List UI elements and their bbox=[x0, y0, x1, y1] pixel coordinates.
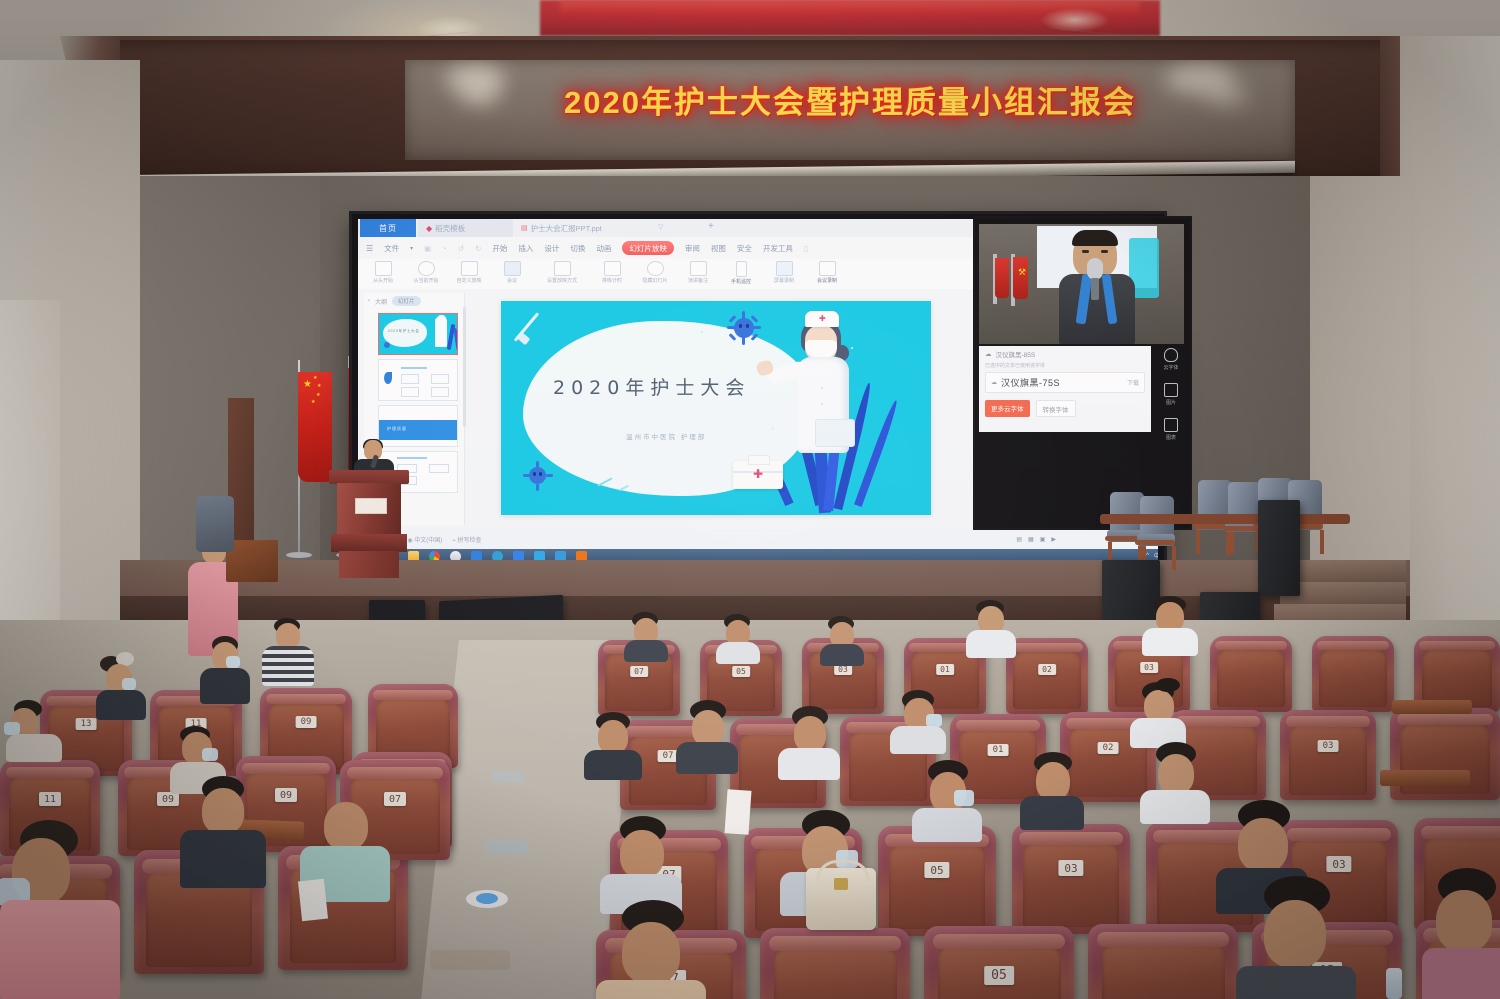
handbag bbox=[806, 868, 876, 930]
collapse-icon[interactable]: ‹ bbox=[368, 298, 370, 304]
seat-number: 01 bbox=[988, 744, 1009, 756]
nurse-clipboard bbox=[815, 419, 855, 447]
slide-canvas[interactable]: 2020年护士大会 温州市中医院 护理部 bbox=[501, 301, 931, 515]
video-feed: ⚒ bbox=[979, 224, 1184, 344]
chevron-down-icon[interactable]: ▾ bbox=[410, 245, 413, 252]
attendee bbox=[1148, 678, 1188, 718]
font-selected-row[interactable]: ☁ 汉仪旗黑-75S 下载 bbox=[985, 372, 1145, 393]
seat[interactable]: 03 bbox=[1012, 824, 1130, 934]
selected-font-name: 汉仪旗黑-75S bbox=[1001, 376, 1060, 389]
seat-armrest-table bbox=[1392, 700, 1472, 714]
side-chair bbox=[196, 496, 234, 552]
presenter-figure bbox=[1057, 230, 1137, 344]
speaker-cabinet bbox=[1258, 500, 1300, 596]
ribbon-item-design[interactable]: 设计 bbox=[544, 243, 559, 254]
slide-thumbnail[interactable] bbox=[378, 359, 458, 401]
more-cloud-fonts-button[interactable]: 更多云字体 bbox=[985, 400, 1030, 417]
meeting-icon bbox=[504, 261, 521, 276]
tab-home[interactable]: 首页 bbox=[360, 219, 416, 237]
setup-show-icon bbox=[554, 261, 571, 276]
tool-play-from-start[interactable]: 从头开始 bbox=[368, 261, 398, 284]
attendee bbox=[262, 618, 314, 684]
floor-decal bbox=[430, 950, 510, 970]
status-spellcheck[interactable]: ⌁ 拼写检查 bbox=[452, 535, 481, 544]
rail-item-chart[interactable]: 图表 bbox=[1164, 418, 1178, 441]
seat[interactable] bbox=[1088, 924, 1238, 999]
seat[interactable]: 05 bbox=[878, 826, 996, 936]
ribbon-item-devtools[interactable]: 开发工具 bbox=[763, 243, 793, 254]
attendee bbox=[600, 816, 682, 912]
attendee bbox=[596, 900, 706, 999]
font-panel-buttons: 更多云字体 转换字体 bbox=[979, 396, 1151, 421]
seat[interactable] bbox=[1390, 708, 1500, 800]
seat-number: 01 bbox=[936, 664, 954, 675]
play-screen-icon bbox=[375, 261, 392, 276]
paper-sheet bbox=[298, 879, 328, 921]
ribbon-item-transition[interactable]: 切换 bbox=[570, 243, 585, 254]
seat-number: 02 bbox=[1098, 742, 1119, 754]
ribbon-hamburger-icon[interactable]: ☰ bbox=[366, 244, 373, 253]
record-icon bbox=[776, 261, 793, 276]
font-list-item-label: 汉仪旗黑-85S bbox=[996, 349, 1036, 359]
thumbnail-scrollbar[interactable] bbox=[463, 307, 466, 427]
more-ribbon-icon[interactable]: ▯ bbox=[804, 244, 808, 253]
new-tab-button[interactable]: + bbox=[708, 221, 714, 232]
slides-tab[interactable]: 幻灯片 bbox=[392, 296, 421, 306]
tool-meeting-record[interactable]: 会议录制 bbox=[812, 261, 842, 284]
right-tool-rail: 云字体 图片 图表 bbox=[1154, 348, 1188, 441]
attendee bbox=[0, 820, 120, 999]
ribbon-item-animation[interactable]: 动画 bbox=[596, 243, 611, 254]
status-language[interactable]: ◉ 中文(中国) bbox=[407, 535, 442, 544]
ppt-file-icon: ▤ bbox=[521, 224, 528, 232]
tool-custom-show[interactable]: 自定义放映 bbox=[454, 261, 484, 284]
attendee bbox=[676, 700, 738, 772]
tab-overflow-icon[interactable]: ▽ · bbox=[658, 223, 668, 231]
cloud-font-icon bbox=[1164, 348, 1178, 362]
podium-nameplate bbox=[355, 498, 387, 514]
tab-file-label: 护士大会汇报PPT.ppt bbox=[531, 223, 602, 234]
view-slideshow-icon[interactable]: ▶ bbox=[1051, 536, 1056, 543]
attendee bbox=[820, 616, 864, 664]
seat-number: 09 bbox=[275, 788, 297, 802]
ribbon-item-slideshow[interactable]: 幻灯片放映 bbox=[622, 241, 674, 255]
seat-number: 07 bbox=[630, 666, 648, 677]
tab-file[interactable]: ▤ 护士大会汇报PPT.ppt bbox=[513, 219, 657, 237]
seat-number: 09 bbox=[296, 716, 317, 728]
play-current-icon bbox=[418, 261, 435, 276]
ribbon-item-security[interactable]: 安全 bbox=[737, 243, 752, 254]
wps-status-bar: 幻灯片 1/24 ◉ 中文(中国) ⌁ 拼写检查 ▤ ▦ ▣ ▶ 63% − + bbox=[358, 529, 1158, 549]
font-list-hint: 已选中的文本已使用该字体 bbox=[979, 362, 1151, 369]
tool-phone-remote[interactable]: 手机遥控 bbox=[726, 261, 756, 285]
slide-thumbnail[interactable]: 2020年护士大会 bbox=[378, 313, 458, 355]
view-reading-icon[interactable]: ▣ bbox=[1040, 536, 1046, 543]
slide-subtitle: 温州市中医院 护理部 bbox=[626, 431, 706, 441]
attendee bbox=[6, 700, 64, 760]
podium bbox=[333, 470, 405, 578]
font-picker-panel[interactable]: ☁ 汉仪旗黑-85S 已选中的文本已使用该字体 ☁ 汉仪旗黑-75S 下载 更多… bbox=[979, 346, 1151, 432]
seat-number: 03 bbox=[1058, 860, 1083, 876]
meeting-record-icon bbox=[819, 261, 836, 276]
hide-slide-icon bbox=[647, 261, 664, 276]
tool-screen-record[interactable]: 屏幕录制 bbox=[769, 261, 799, 284]
attendee bbox=[180, 776, 266, 886]
nurse-mask bbox=[805, 340, 837, 358]
print-icon[interactable]: ◔ bbox=[442, 244, 447, 253]
virus-icon bbox=[729, 313, 759, 343]
tool-play-from-current[interactable]: 从当前开始 bbox=[411, 261, 441, 284]
tool-notes[interactable]: 演讲备注 bbox=[683, 261, 713, 284]
ribbon-item-file[interactable]: 文件 bbox=[384, 243, 399, 254]
seat[interactable] bbox=[760, 928, 910, 999]
seat-number: 11 bbox=[39, 792, 61, 806]
attendee bbox=[716, 614, 760, 662]
seat[interactable]: 05 bbox=[924, 926, 1074, 999]
image-icon bbox=[1164, 383, 1178, 397]
chart-icon bbox=[1164, 418, 1178, 432]
syringe-plunger bbox=[518, 333, 531, 346]
font-list-item[interactable]: ☁ 汉仪旗黑-85S bbox=[979, 346, 1151, 362]
seat-number: 05 bbox=[984, 966, 1014, 985]
view-sorter-icon[interactable]: ▦ bbox=[1028, 536, 1034, 543]
attendee bbox=[1142, 596, 1198, 654]
attendee bbox=[1236, 876, 1356, 999]
ribbon-item-view[interactable]: 视图 bbox=[711, 243, 726, 254]
notes-icon bbox=[690, 261, 707, 276]
attendee bbox=[890, 690, 946, 752]
seat-number: 05 bbox=[924, 862, 949, 878]
ribbon-item-insert[interactable]: 插入 bbox=[518, 243, 533, 254]
nurse-illustration: ✚ bbox=[783, 307, 869, 507]
seat-number: 05 bbox=[732, 666, 750, 677]
ribbon-item-review[interactable]: 审阅 bbox=[685, 243, 700, 254]
attendee bbox=[1020, 752, 1084, 828]
custom-show-icon bbox=[461, 261, 478, 276]
tool-rehearse[interactable]: 排练计时 bbox=[597, 261, 627, 284]
seat-number: 09 bbox=[157, 792, 179, 806]
seat-number: 03 bbox=[1326, 856, 1351, 872]
rehearse-icon bbox=[604, 261, 621, 276]
paper-sheet bbox=[724, 789, 751, 835]
seat-number: 02 bbox=[1038, 664, 1056, 675]
attendee bbox=[584, 712, 642, 778]
convert-font-button[interactable]: 转换字体 bbox=[1036, 400, 1076, 417]
slide-title: 2020年护士大会 bbox=[553, 373, 750, 400]
water-bottle bbox=[1386, 968, 1402, 999]
virus-icon bbox=[525, 463, 551, 489]
seat-number: 03 bbox=[1318, 740, 1339, 752]
seat[interactable] bbox=[1210, 636, 1292, 712]
redo-icon[interactable]: ↻ bbox=[475, 244, 481, 253]
attendee bbox=[1422, 868, 1500, 999]
auditorium-photo: 2020年护士大会暨护理质量小组汇报会 ★ ★ ★ ★ ★ ⚒ bbox=[0, 0, 1500, 999]
tool-hide-slide[interactable]: 隐藏幻灯片 bbox=[640, 261, 670, 284]
cloud-font-icon: ☁ bbox=[991, 379, 997, 386]
seat[interactable] bbox=[1312, 636, 1394, 712]
seat[interactable]: 02 bbox=[1006, 638, 1088, 714]
tab-template-label: 稻壳模板 bbox=[435, 223, 465, 234]
download-font-button[interactable]: 下载 bbox=[1127, 378, 1139, 387]
ribbon-item-start[interactable]: 开始 bbox=[492, 243, 507, 254]
seat-armrest-table bbox=[1380, 770, 1470, 786]
slide-panel-header: ‹ 大纲 幻灯片 bbox=[364, 293, 464, 309]
cloud-font-icon: ☁ bbox=[985, 350, 992, 358]
tool-setup-show[interactable]: 设置放映方式 bbox=[540, 261, 584, 284]
nurse-cap-cross-icon: ✚ bbox=[819, 315, 826, 323]
view-normal-icon[interactable]: ▤ bbox=[1016, 536, 1022, 543]
floor-decal bbox=[492, 772, 524, 782]
phone-remote-icon bbox=[736, 261, 747, 277]
attendee bbox=[778, 706, 840, 778]
attendee bbox=[966, 600, 1016, 656]
undo-icon[interactable]: ↺ bbox=[458, 244, 464, 253]
tab-template[interactable]: ◆ 稻壳模板 bbox=[418, 219, 526, 237]
seat-number: 03 bbox=[1140, 662, 1158, 673]
attendee bbox=[1140, 742, 1210, 822]
tool-meeting[interactable]: 会议 bbox=[497, 261, 527, 284]
floor-marker bbox=[476, 893, 498, 904]
attendee bbox=[196, 638, 252, 702]
seat-number: 13 bbox=[76, 718, 97, 730]
rail-item-cloud-font[interactable]: 云字体 bbox=[1163, 348, 1178, 371]
seat[interactable]: 03 bbox=[1280, 710, 1376, 800]
medical-kit-icon: ✚ bbox=[733, 453, 783, 489]
attendee bbox=[624, 612, 668, 660]
floor-decal bbox=[486, 840, 528, 854]
rail-item-image[interactable]: 图片 bbox=[1164, 383, 1178, 406]
outline-tab[interactable]: 大纲 bbox=[375, 297, 387, 306]
attendee bbox=[912, 760, 982, 840]
template-icon: ◆ bbox=[426, 224, 432, 233]
attendee bbox=[94, 656, 148, 718]
save-icon[interactable]: ▣ bbox=[424, 244, 431, 253]
